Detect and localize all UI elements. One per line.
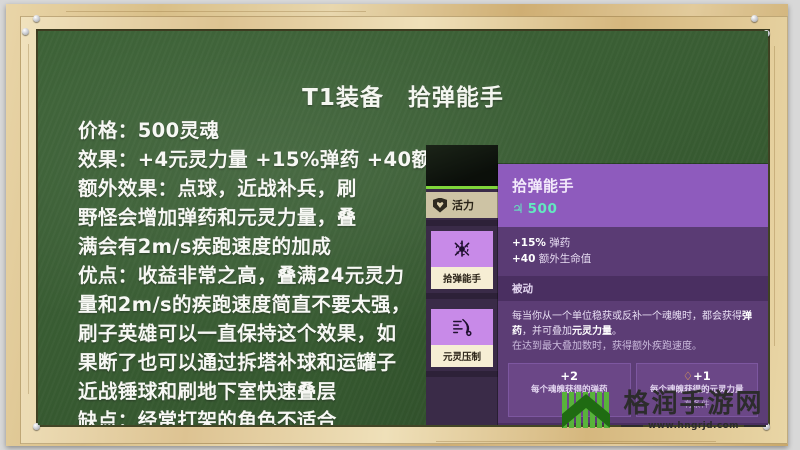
shop-header-banner xyxy=(426,145,498,189)
shop-category-label: 活力 xyxy=(452,197,474,213)
soul-coin-icon: ♃ xyxy=(512,202,524,217)
tooltip-section-label: 被动 xyxy=(498,276,768,301)
bullet-pickup-icon xyxy=(431,231,493,267)
tooltip-stat-label: 额外生命值 xyxy=(539,253,592,265)
shop-item-spirit-suppress[interactable]: 元灵压制 xyxy=(431,309,493,367)
shield-heart-icon xyxy=(433,198,447,213)
stat-box-value: ♢+1 xyxy=(641,369,754,383)
tooltip-header: 拾弹能手 ♃ 500 xyxy=(498,164,768,227)
wood-grain-line xyxy=(774,46,775,346)
page-title: T1装备 拾弹能手 xyxy=(38,78,768,112)
watermark-logo-icon xyxy=(560,384,612,436)
tooltip-description: 每当你从一个单位稳获或反补一个魂魄时，都会获得弹药，并可叠加元灵力量。 在达到最… xyxy=(498,301,768,363)
watermark: 格润手游网 www.hngrjd.com xyxy=(560,384,766,436)
wood-grain-line xyxy=(436,441,716,442)
stat-box-value-text: +1 xyxy=(693,369,711,383)
stat-box-value: +2 xyxy=(513,369,626,383)
desc-highlight-spirit: 元灵力量 xyxy=(572,326,612,337)
desc-part: 每当你从一个单位稳获或反补一个魂魄时，都会获 xyxy=(512,311,732,322)
desc-part: 得 xyxy=(732,311,742,322)
shop-item-bullet-pickup[interactable]: 拾弹能手 xyxy=(431,231,493,289)
screenshot-root: T1装备 拾弹能手 价格：500灵魂 效果：+4元灵力量 +15%弹药 +40额… xyxy=(0,0,800,450)
game-screenshot-overlay: 活力 xyxy=(426,145,768,425)
shop-sidebar[interactable]: 活力 xyxy=(426,145,498,425)
tooltip-stat-row: +15% 弹药 xyxy=(512,235,754,251)
tooltip-stat-value: +15% xyxy=(512,237,546,249)
shop-item-label: 元灵压制 xyxy=(431,345,493,367)
tooltip-stats: +15% 弹药 +40 额外生命值 xyxy=(498,227,768,276)
tooltip-description-line2: 在达到最大叠加数时，获得额外疾跑速度。 xyxy=(512,339,754,354)
shop-item-label: 拾弹能手 xyxy=(431,267,493,289)
tooltip-description-line: 每当你从一个单位稳获或反补一个魂魄时，都会获得弹药，并可叠加元灵力量。 xyxy=(512,309,754,339)
tooltip-item-name: 拾弹能手 xyxy=(512,175,754,196)
wood-grain-line xyxy=(28,44,29,394)
tooltip-stat-row: +40 额外生命值 xyxy=(512,251,754,267)
chalk-line: 价格：500灵魂 xyxy=(78,116,738,145)
shop-divider xyxy=(426,220,498,226)
shop-divider xyxy=(426,371,498,377)
watermark-name: 格润手游网 xyxy=(623,389,763,419)
watermark-rule xyxy=(621,425,643,427)
tooltip-stat-label: 弹药 xyxy=(549,237,570,249)
frame-screw-icon xyxy=(751,15,758,22)
watermark-url: www.hngrjd.com xyxy=(648,421,739,431)
watermark-rule xyxy=(744,425,766,427)
spirit-suppress-icon xyxy=(431,309,493,345)
chalkboard-wood-frame: T1装备 拾弹能手 价格：500灵魂 效果：+4元灵力量 +15%弹药 +40额… xyxy=(6,4,788,446)
watermark-text: 格润手游网 www.hngrjd.com xyxy=(621,389,766,431)
frame-screw-icon xyxy=(22,28,29,35)
spirit-orb-icon: ♢ xyxy=(683,369,693,383)
tooltip-stat-value: +40 xyxy=(512,253,535,265)
wood-grain-line xyxy=(66,11,366,12)
shop-category-vitality[interactable]: 活力 xyxy=(426,192,498,218)
tooltip-price: ♃ 500 xyxy=(512,201,754,217)
chalkboard-surface: T1装备 拾弹能手 价格：500灵魂 效果：+4元灵力量 +15%弹药 +40额… xyxy=(38,31,768,425)
frame-screw-icon xyxy=(33,15,40,22)
shop-divider xyxy=(426,293,498,299)
desc-part: ，并可叠加 xyxy=(522,326,572,337)
desc-part: 。 xyxy=(612,326,622,337)
watermark-url-row: www.hngrjd.com xyxy=(621,421,766,431)
tooltip-price-value: 500 xyxy=(528,201,558,217)
